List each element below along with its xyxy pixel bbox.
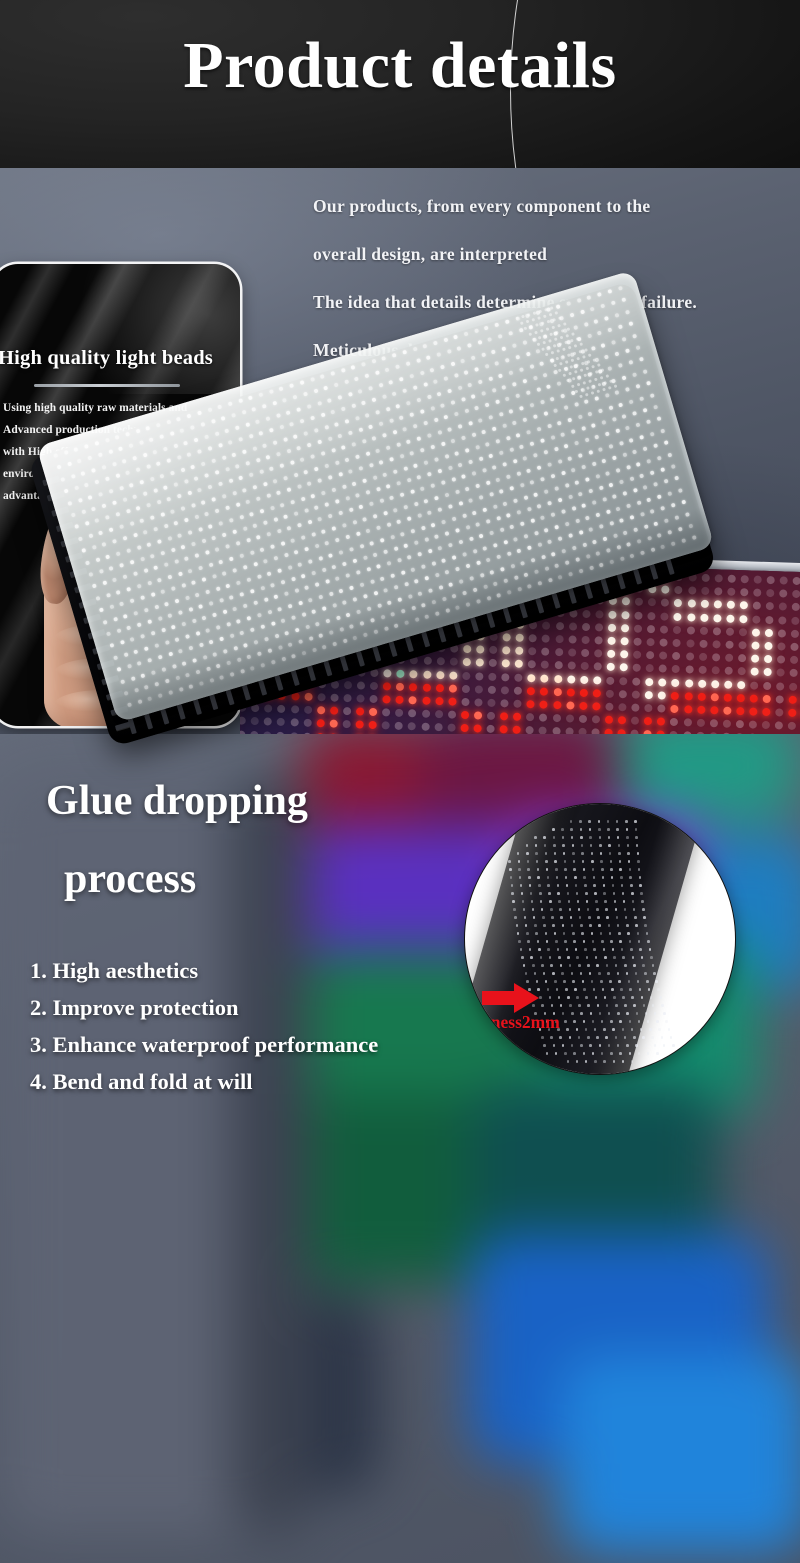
led-dot — [711, 667, 719, 675]
led-dot — [540, 701, 548, 709]
led-dot — [620, 650, 628, 658]
panel-led-dot — [424, 576, 429, 581]
panel-led-dot — [489, 492, 494, 497]
panel-led-dot — [126, 587, 131, 592]
panel-led-dot — [595, 435, 600, 440]
panel-led-dot — [137, 622, 142, 627]
panel-led-dot — [270, 505, 275, 510]
led-dot — [618, 703, 626, 711]
panel-led-dot — [238, 476, 243, 481]
strip-led-dot — [615, 964, 618, 967]
led-dot — [528, 647, 536, 655]
panel-led-dot — [403, 505, 408, 510]
led-dot — [684, 692, 692, 700]
strip-led-dot — [637, 860, 640, 863]
strip-led-dot — [633, 1004, 636, 1007]
panel-led-dot — [413, 463, 418, 468]
panel-led-dot — [253, 601, 258, 606]
panel-led-dot — [419, 370, 424, 375]
panel-led-dot — [351, 404, 356, 409]
led-dot — [316, 719, 324, 727]
panel-led-dot — [465, 564, 470, 569]
strip-led-dot — [629, 940, 632, 943]
led-dot — [672, 678, 680, 686]
panel-notch — [584, 583, 593, 599]
panel-led-dot — [194, 437, 199, 442]
strip-led-dot — [585, 996, 588, 999]
led-dot — [317, 693, 325, 701]
panel-led-dot — [208, 485, 213, 490]
panel-led-dot — [605, 432, 610, 437]
ribbon-dot — [594, 377, 598, 381]
panel-led-dot — [78, 536, 83, 541]
panel-led-dot — [106, 631, 111, 636]
panel-led-dot — [290, 538, 295, 543]
strip-led-dot — [559, 908, 562, 911]
panel-led-dot — [368, 424, 373, 429]
panel-led-dot — [373, 552, 378, 557]
led-dot — [659, 652, 667, 660]
strip-led-dot — [534, 924, 537, 927]
panel-led-dot — [229, 517, 234, 522]
panel-led-dot — [591, 423, 596, 428]
panel-led-dot — [280, 541, 285, 546]
panel-led-dot — [451, 439, 456, 444]
strip-led-dot — [545, 860, 548, 863]
strip-led-dot — [533, 916, 536, 919]
strip-led-dot — [554, 852, 557, 855]
strip-led-dot — [544, 844, 547, 847]
panel-led-dot — [571, 429, 576, 434]
panel-led-dot — [88, 572, 93, 577]
panel-led-dot — [457, 424, 462, 429]
panel-led-dot — [643, 485, 648, 490]
strip-led-dot — [553, 844, 556, 847]
led-dot — [343, 707, 351, 715]
led-dot — [329, 720, 337, 728]
led-dot — [711, 680, 719, 688]
panel-led-dot — [474, 367, 479, 372]
led-dot — [461, 698, 469, 706]
panel-led-dot — [462, 513, 467, 518]
panel-led-dot — [512, 343, 517, 348]
led-dot — [739, 615, 747, 623]
panel-led-dot — [137, 661, 142, 666]
panel-led-dot — [129, 444, 134, 449]
panel-led-dot — [276, 452, 281, 457]
led-dot — [395, 722, 403, 730]
led-dot — [762, 708, 770, 716]
panel-led-dot — [166, 458, 171, 463]
panel-led-dot — [639, 435, 644, 440]
strip-led-dot — [668, 1028, 671, 1031]
panel-led-dot — [190, 425, 195, 430]
strip-led-dots — [465, 804, 735, 1074]
panel-led-dot — [520, 483, 525, 488]
panel-led-dot — [108, 450, 113, 455]
strip-led-dot — [540, 956, 543, 959]
panel-led-dot — [643, 447, 648, 452]
strip-led-dot — [635, 972, 638, 975]
panel-led-dot — [477, 340, 482, 345]
strip-led-dot — [554, 980, 557, 983]
strip-led-dot — [583, 1052, 586, 1055]
strip-led-dot — [645, 1012, 648, 1015]
panel-led-dot — [233, 607, 238, 612]
led-dot — [251, 717, 259, 725]
led-dot — [344, 681, 352, 689]
panel-led-dot — [272, 401, 277, 406]
panel-led-dot — [465, 486, 470, 491]
panel-led-dot — [372, 398, 377, 403]
strip-led-dot — [571, 1012, 574, 1015]
panel-led-dot — [113, 616, 118, 621]
panel-led-dot — [622, 414, 627, 419]
panel-led-dot — [630, 515, 635, 520]
ribbon-dot — [604, 381, 608, 385]
panel-led-dot — [67, 501, 72, 506]
led-dot — [764, 668, 772, 676]
panel-led-dot — [170, 509, 175, 514]
led-dot — [791, 643, 799, 651]
panel-led-dot — [280, 502, 285, 507]
panel-led-dot — [345, 535, 350, 540]
panel-led-dot — [344, 380, 349, 385]
panel-led-dot — [406, 362, 411, 367]
strip-led-dot — [548, 892, 551, 895]
led-dot — [766, 602, 774, 610]
panel-led-dot — [389, 457, 394, 462]
led-dot — [342, 720, 350, 728]
strip-led-dot — [523, 908, 526, 911]
ribbon-dot — [567, 353, 571, 357]
panel-led-dot — [505, 358, 510, 363]
led-dot — [776, 695, 784, 703]
ribbon-dot — [571, 332, 575, 336]
led-dot — [553, 688, 561, 696]
panel-led-dot — [98, 453, 103, 458]
strip-led-dot — [583, 876, 586, 879]
panel-led-dot — [392, 353, 397, 358]
panel-led-dot — [399, 377, 404, 382]
panel-notch — [454, 622, 463, 638]
strip-led-dot — [546, 1052, 549, 1055]
panel-led-dot — [650, 470, 655, 475]
panel-led-dot — [444, 492, 449, 497]
panel-led-dot — [221, 455, 226, 460]
panel-led-dot — [77, 459, 82, 464]
strip-led-dot — [593, 948, 596, 951]
panel-led-dot — [191, 580, 196, 585]
panel-led-dot — [157, 616, 162, 621]
panel-led-dot — [314, 505, 319, 510]
ribbon-dot — [558, 317, 562, 321]
panel-led-dot — [126, 509, 131, 514]
panel-led-dot — [191, 503, 196, 508]
strip-led-dot — [518, 860, 521, 863]
panel-led-dot — [420, 487, 425, 492]
panel-led-dot — [202, 616, 207, 621]
strip-led-dot — [552, 924, 555, 927]
panel-led-dot — [263, 559, 268, 564]
strip-led-dot — [581, 844, 584, 847]
strip-led-dot — [520, 884, 523, 887]
panel-led-dot — [373, 591, 378, 596]
strip-led-dot — [591, 852, 594, 855]
panel-led-dot — [450, 361, 455, 366]
strip-led-dot — [537, 868, 540, 871]
panel-led-dot — [134, 649, 139, 654]
led-dot — [740, 588, 748, 596]
panel-led-dot — [508, 331, 513, 336]
panel-led-dot — [276, 413, 281, 418]
panel-led-dot — [382, 472, 387, 477]
led-dot — [449, 671, 457, 679]
led-dot — [581, 649, 589, 657]
ribbon-dot — [525, 320, 529, 324]
panel-led-dot — [452, 555, 457, 560]
strip-led-dot — [519, 876, 522, 879]
panel-led-dot — [412, 347, 417, 352]
led-dot — [514, 673, 522, 681]
panel-led-dot — [423, 421, 428, 426]
panel-led-dot — [330, 410, 335, 415]
strip-led-dot — [520, 948, 523, 951]
panel-led-dot — [334, 383, 339, 388]
led-dot — [698, 666, 706, 674]
panel-led-dot — [266, 455, 271, 460]
strip-led-dot — [618, 932, 621, 935]
panel-led-dot — [472, 471, 477, 476]
led-dot — [701, 574, 709, 582]
panel-led-dot — [481, 391, 486, 396]
ribbon-dot — [584, 374, 588, 378]
led-dot — [409, 683, 417, 691]
panel-led-dot — [498, 373, 503, 378]
panel-led-dot — [512, 382, 517, 387]
panel-led-dot — [400, 531, 405, 536]
panel-led-dot — [389, 418, 394, 423]
panel-led-dot — [209, 640, 214, 645]
panel-led-dot — [98, 491, 103, 496]
panel-led-dot — [149, 438, 154, 443]
panel-led-dot — [242, 449, 247, 454]
led-dot — [697, 706, 705, 714]
led-dot — [528, 660, 536, 668]
panel-notch — [389, 641, 398, 657]
ribbon-dot — [550, 306, 554, 310]
panel-led-dot — [506, 513, 511, 518]
ribbon-dot — [557, 349, 561, 353]
panel-led-dot — [325, 579, 330, 584]
strip-led-dot — [625, 916, 628, 919]
strip-led-dot — [602, 988, 605, 991]
strip-led-dot — [550, 1036, 553, 1039]
strip-led-dot — [598, 972, 601, 975]
panel-led-dot — [623, 491, 628, 496]
strip-led-dot — [556, 876, 559, 879]
panel-led-dot — [314, 544, 319, 549]
ribbon-dot — [609, 379, 613, 383]
panel-led-dot — [413, 424, 418, 429]
panel-led-dot — [433, 341, 438, 346]
led-dot — [500, 699, 508, 707]
panel-led-dot — [228, 440, 233, 445]
panel-led-dot — [365, 451, 370, 456]
panel-led-dot — [174, 521, 179, 526]
led-dot — [726, 614, 734, 622]
led-dot — [621, 624, 629, 632]
led-dot — [503, 633, 511, 641]
panel-led-dot — [618, 402, 623, 407]
strip-led-dot — [656, 1020, 659, 1023]
strip-led-dot — [630, 884, 633, 887]
panel-led-dot — [355, 493, 360, 498]
strip-led-dot — [564, 1020, 567, 1023]
led-dot — [736, 707, 744, 715]
strip-led-dot — [633, 908, 636, 911]
strip-led-dot — [603, 1060, 606, 1063]
strip-led-dot — [547, 988, 550, 991]
ribbon-dot — [591, 391, 595, 395]
panel-led-dot — [180, 467, 185, 472]
panel-led-dot — [430, 484, 435, 489]
led-dot — [421, 710, 429, 718]
ribbon-dot — [597, 363, 601, 367]
panel-led-dot — [106, 593, 111, 598]
ribbon-dot — [547, 346, 551, 350]
strip-led-dot — [576, 956, 579, 959]
led-dot — [608, 610, 616, 618]
led-dot — [727, 575, 735, 583]
strip-led-dot — [614, 900, 617, 903]
strip-led-dot — [637, 980, 640, 983]
panel-led-dot — [468, 498, 473, 503]
strip-led-dot — [619, 860, 622, 863]
ribbon-dot — [562, 348, 566, 352]
ribbon-dot — [565, 360, 569, 364]
panel-led-dot — [160, 551, 165, 556]
strip-led-dot — [599, 1012, 602, 1015]
strip-led-dot — [517, 852, 520, 855]
strip-led-dot — [571, 972, 574, 975]
led-dot — [776, 682, 784, 690]
panel-led-dot — [598, 408, 603, 413]
strip-led-dot — [615, 1036, 618, 1039]
ribbon-dot — [608, 386, 612, 390]
panel-led-dot — [335, 499, 340, 504]
ribbon-dot — [588, 353, 592, 357]
led-dot — [369, 721, 377, 729]
strip-led-dot — [611, 876, 614, 879]
ribbon-dot — [544, 334, 548, 338]
panel-notch — [552, 593, 561, 609]
strip-led-dot — [661, 1036, 664, 1039]
strip-led-dot — [572, 980, 575, 983]
panel-led-dot — [184, 518, 189, 523]
panel-led-dot — [557, 420, 562, 425]
led-dot — [502, 660, 510, 668]
panel-led-dot — [157, 577, 162, 582]
panel-led-dot — [109, 566, 114, 571]
led-dot — [671, 692, 679, 700]
led-dot — [330, 694, 338, 702]
panel-led-dot — [118, 447, 123, 452]
panel-led-dot — [178, 571, 183, 576]
panel-led-dot — [567, 417, 572, 422]
strip-led-dot — [605, 1036, 608, 1039]
led-dot — [779, 603, 787, 611]
strip-led-dot — [602, 876, 605, 879]
panel-led-dot — [266, 532, 271, 537]
led-dot — [750, 681, 758, 689]
panel-led-dot — [491, 388, 496, 393]
panel-led-dot — [81, 509, 86, 514]
panel-led-dot — [571, 468, 576, 473]
ribbon-dot — [541, 348, 545, 352]
led-dot — [593, 689, 601, 697]
panel-led-dot — [438, 507, 443, 512]
panel-led-dot — [195, 592, 200, 597]
panel-led-dot — [430, 367, 435, 372]
strip-led-dot — [631, 1060, 634, 1063]
panel-led-dot — [325, 541, 330, 546]
panel-led-dot — [191, 542, 196, 547]
led-dot — [618, 716, 626, 724]
strip-led-dot — [575, 884, 578, 887]
ribbon-dot — [567, 327, 571, 331]
panel-led-dot — [338, 472, 343, 477]
panel-led-dot — [229, 634, 234, 639]
panel-led-dot — [209, 601, 214, 606]
panel-notch — [486, 612, 495, 628]
panel-led-dot — [146, 542, 151, 547]
panel-led-dot — [488, 415, 493, 420]
panel-led-dot — [250, 589, 255, 594]
panel-led-dot — [263, 482, 268, 487]
panel-led-dot — [160, 473, 165, 478]
strip-led-dot — [569, 964, 572, 967]
panel-led-dot — [410, 490, 415, 495]
led-dot — [670, 718, 678, 726]
panel-led-dot — [509, 447, 514, 452]
strip-led-dot — [605, 908, 608, 911]
panel-led-dot — [416, 397, 421, 402]
led-dot — [790, 656, 798, 664]
led-dot — [658, 678, 666, 686]
strip-led-dot — [590, 844, 593, 847]
panel-led-dot — [352, 558, 357, 563]
panel-led-dot — [67, 462, 72, 467]
panel-led-dot — [382, 433, 387, 438]
panel-led-dot — [273, 479, 278, 484]
panel-led-dot — [346, 573, 351, 578]
ribbon-dot — [602, 388, 606, 392]
panel-led-dot — [381, 356, 386, 361]
led-dot — [723, 720, 731, 728]
panel-led-dot — [84, 444, 89, 449]
panel-led-dot — [420, 448, 425, 453]
panel-led-dot — [307, 443, 312, 448]
panel-led-dot — [112, 578, 117, 583]
panel-led-dot — [259, 508, 264, 513]
panel-led-dot — [144, 607, 149, 612]
led-dot — [422, 683, 430, 691]
panel-led-dot — [564, 483, 569, 488]
panel-led-dot — [289, 422, 294, 427]
panel-led-dot — [362, 478, 367, 483]
panel-led-dot — [431, 522, 436, 527]
